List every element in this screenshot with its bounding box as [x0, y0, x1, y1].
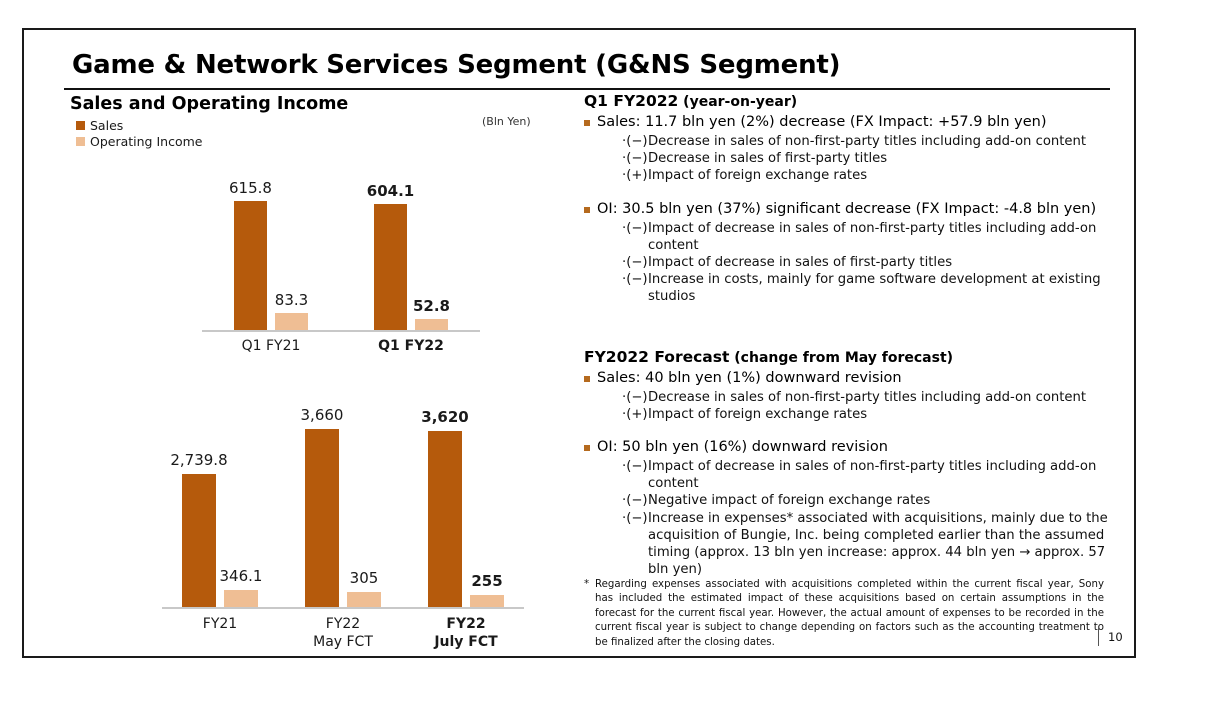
sub-bullet-list: ·(−)Decrease in sales of non-first-party… [622, 133, 1109, 184]
chart-category-label: FY22May FCT [283, 616, 403, 651]
legend-swatch-operating-income [76, 137, 85, 146]
legend-item-sales: Sales [76, 118, 202, 133]
bar-operating-income [275, 313, 308, 330]
sub-bullet-item: ·(+)Impact of foreign exchange rates [622, 406, 1109, 423]
footnote-marker: * [584, 578, 595, 650]
bar-value-label: 2,739.8 [149, 451, 249, 469]
sub-bullet-text: Impact of decrease in sales of non-first… [648, 220, 1109, 254]
chart-axis [202, 330, 480, 332]
commentary-panel: Q1 FY2022 (year-on-year)Sales: 11.7 bln … [584, 92, 1109, 578]
chart-axis [162, 607, 524, 609]
bullet-text: Sales: 11.7 bln yen (2%) decrease (FX Im… [597, 113, 1109, 132]
footnote-text: Regarding expenses associated with acqui… [595, 578, 1104, 650]
sub-bullet-marker: ·(−) [622, 389, 648, 406]
sub-bullet-marker: ·(−) [622, 220, 648, 254]
sub-bullet-text: Increase in costs, mainly for game softw… [648, 271, 1109, 305]
sub-bullet-marker: ·(−) [622, 510, 648, 579]
sub-bullet-marker: ·(+) [622, 167, 648, 184]
bullet-square-icon [584, 207, 590, 213]
bar-value-label: 604.1 [341, 182, 441, 200]
sub-bullet-text: Decrease in sales of first-party titles [648, 150, 1109, 167]
bar-operating-income [470, 595, 504, 607]
sub-bullet-item: ·(−)Decrease in sales of non-first-party… [622, 133, 1109, 150]
sub-bullet-text: Impact of decrease in sales of non-first… [648, 458, 1109, 492]
page-title: Game & Network Services Segment (G&NS Se… [72, 50, 840, 80]
unit-label: (Bln Yen) [482, 115, 531, 128]
sub-bullet-list: ·(−)Impact of decrease in sales of non-f… [622, 458, 1109, 578]
section-heading: Q1 FY2022 (year-on-year) [584, 92, 1109, 110]
bar-value-label: 3,620 [395, 408, 495, 426]
chart-fiscal-year-sales-oi: 2,739.8346.1FY213,660305FY22May FCT3,620… [134, 370, 534, 635]
bullet-item: Sales: 11.7 bln yen (2%) decrease (FX Im… [584, 113, 1109, 132]
bullet-text: Sales: 40 bln yen (1%) downward revision [597, 369, 1109, 388]
section-heading: FY2022 Forecast (change from May forecas… [584, 348, 1109, 366]
bar-operating-income [224, 590, 258, 607]
sub-bullet-marker: ·(−) [622, 254, 648, 271]
bullet-spacer [584, 423, 1109, 436]
chart-category-label: FY22July FCT [406, 616, 526, 651]
sub-bullet-item: ·(−)Impact of decrease in sales of first… [622, 254, 1109, 271]
sub-bullet-list: ·(−)Impact of decrease in sales of non-f… [622, 220, 1109, 306]
bar-sales [234, 201, 267, 330]
bullet-square-icon [584, 120, 590, 126]
chart-category-label: Q1 FY21 [211, 338, 331, 356]
sub-bullet-item: ·(−)Impact of decrease in sales of non-f… [622, 458, 1109, 492]
bar-value-label: 255 [437, 572, 537, 590]
bar-operating-income [415, 319, 448, 330]
bar-value-label: 3,660 [272, 406, 372, 424]
bar-value-label: 305 [314, 569, 414, 587]
sub-bullet-item: ·(−)Increase in expenses* associated wit… [622, 510, 1109, 579]
bullet-square-icon [584, 376, 590, 382]
bullet-spacer [584, 185, 1109, 198]
sub-bullet-text: Impact of foreign exchange rates [648, 167, 1109, 184]
slide-frame: Game & Network Services Segment (G&NS Se… [22, 28, 1136, 658]
bullet-item: OI: 50 bln yen (16%) downward revision [584, 438, 1109, 457]
bar-value-label: 52.8 [382, 297, 482, 315]
legend-swatch-sales [76, 121, 85, 130]
sub-bullet-list: ·(−)Decrease in sales of non-first-party… [622, 389, 1109, 423]
page-number: 10 [1108, 630, 1123, 644]
sub-bullet-marker: ·(−) [622, 133, 648, 150]
sub-bullet-item: ·(−)Negative impact of foreign exchange … [622, 492, 1109, 509]
legend-label-sales: Sales [90, 118, 123, 133]
bar-operating-income [347, 592, 381, 607]
sub-bullet-marker: ·(−) [622, 150, 648, 167]
section-heading-main: Q1 FY2022 [584, 92, 678, 110]
chart-category-label: Q1 FY22 [351, 338, 471, 356]
sub-bullet-text: Decrease in sales of non-first-party tit… [648, 389, 1109, 406]
section-spacer [584, 306, 1109, 348]
title-underline [64, 88, 1110, 90]
sub-bullet-marker: ·(−) [622, 271, 648, 305]
section-heading-sub: (year-on-year) [678, 94, 797, 110]
section-heading-sub: (change from May forecast) [729, 350, 953, 366]
chart-quarterly-sales-oi: 615.883.3Q1 FY21604.152.8Q1 FY22 [174, 140, 504, 350]
sub-bullet-text: Impact of decrease in sales of first-par… [648, 254, 1109, 271]
section-heading-main: FY2022 Forecast [584, 348, 729, 366]
footnote: * Regarding expenses associated with acq… [584, 578, 1104, 650]
sub-bullet-item: ·(−)Decrease in sales of first-party tit… [622, 150, 1109, 167]
sub-bullet-marker: ·(−) [622, 458, 648, 492]
bar-value-label: 83.3 [242, 291, 342, 309]
chart-heading: Sales and Operating Income [70, 94, 348, 114]
sub-bullet-text: Impact of foreign exchange rates [648, 406, 1109, 423]
chart-category-label: FY21 [160, 616, 280, 634]
sub-bullet-item: ·(−)Impact of decrease in sales of non-f… [622, 220, 1109, 254]
sub-bullet-text: Negative impact of foreign exchange rate… [648, 492, 1109, 509]
bar-sales [182, 474, 216, 607]
bullet-item: OI: 30.5 bln yen (37%) significant decre… [584, 200, 1109, 219]
sub-bullet-marker: ·(−) [622, 492, 648, 509]
sub-bullet-text: Decrease in sales of non-first-party tit… [648, 133, 1109, 150]
sub-bullet-item: ·(−)Decrease in sales of non-first-party… [622, 389, 1109, 406]
bar-value-label: 615.8 [201, 179, 301, 197]
bar-value-label: 346.1 [191, 567, 291, 585]
sub-bullet-marker: ·(+) [622, 406, 648, 423]
bullet-item: Sales: 40 bln yen (1%) downward revision [584, 369, 1109, 388]
page-number-separator [1098, 626, 1099, 646]
bullet-square-icon [584, 445, 590, 451]
bullet-text: OI: 30.5 bln yen (37%) significant decre… [597, 200, 1109, 219]
sub-bullet-item: ·(−)Increase in costs, mainly for game s… [622, 271, 1109, 305]
sub-bullet-text: Increase in expenses* associated with ac… [648, 510, 1109, 579]
bullet-text: OI: 50 bln yen (16%) downward revision [597, 438, 1109, 457]
sub-bullet-item: ·(+)Impact of foreign exchange rates [622, 167, 1109, 184]
